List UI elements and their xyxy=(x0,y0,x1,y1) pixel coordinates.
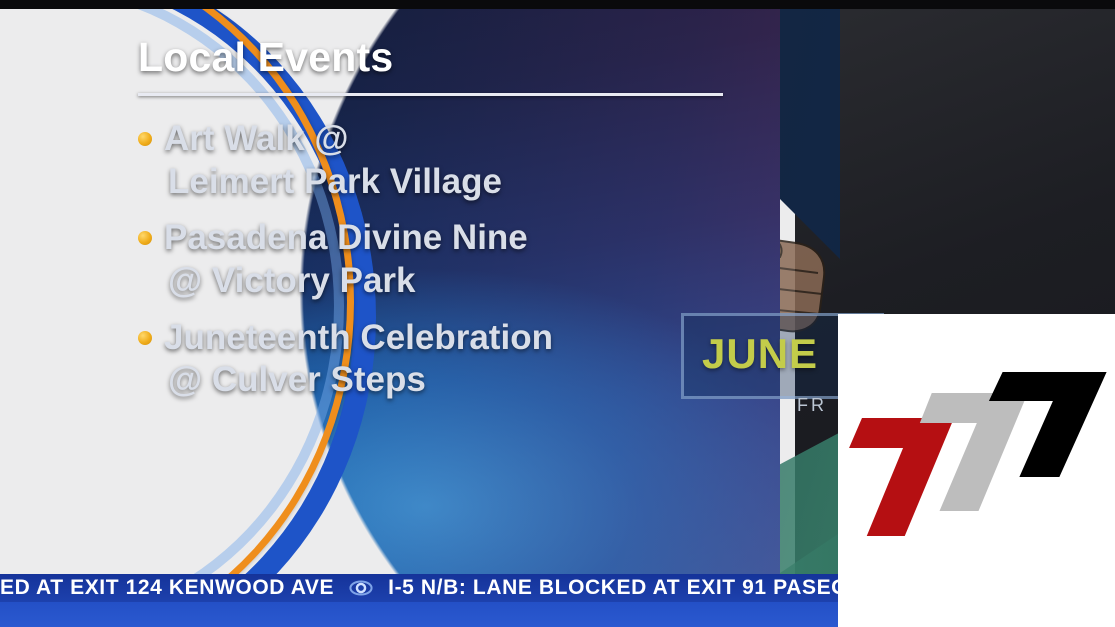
broadcast-screen: ★ ★ ★ ★ JUNE FR Local Events Art Walk @ xyxy=(0,0,1115,627)
list-item: Art Walk @ Leimert Park Village xyxy=(138,118,738,203)
bullet-dot-icon xyxy=(138,231,152,245)
event-line-1: Art Walk @ xyxy=(164,119,349,158)
page-title: Local Events xyxy=(138,36,738,79)
bullet-dot-icon xyxy=(138,132,152,146)
ttt-logo-card xyxy=(838,314,1115,585)
logo-card-overlay xyxy=(838,560,1115,627)
cbs-eye-icon xyxy=(348,575,374,601)
event-line-1: Juneteenth Celebration xyxy=(164,318,553,357)
ttt-letter-red xyxy=(838,418,954,536)
event-line-2: @ Culver Steps xyxy=(168,359,738,402)
list-item: Pasadena Divine Nine @ Victory Park xyxy=(138,217,738,302)
ticker-text-1: ED AT EXIT 124 KENWOOD AVE xyxy=(0,576,334,600)
letterbox-bar-top xyxy=(0,0,1115,9)
juneteenth-subtitle: FR xyxy=(797,395,827,416)
title-underline xyxy=(138,93,723,96)
events-content: Local Events Art Walk @ Leimert Park Vil… xyxy=(138,36,738,416)
event-line-1: Pasadena Divine Nine xyxy=(164,218,528,257)
ttt-logo xyxy=(838,314,1115,585)
bullet-dot-icon xyxy=(138,331,152,345)
events-list: Art Walk @ Leimert Park Village Pasadena… xyxy=(138,118,738,402)
event-line-2: @ Victory Park xyxy=(168,260,738,303)
list-item: Juneteenth Celebration @ Culver Steps xyxy=(138,317,738,402)
event-line-2: Leimert Park Village xyxy=(168,161,738,204)
